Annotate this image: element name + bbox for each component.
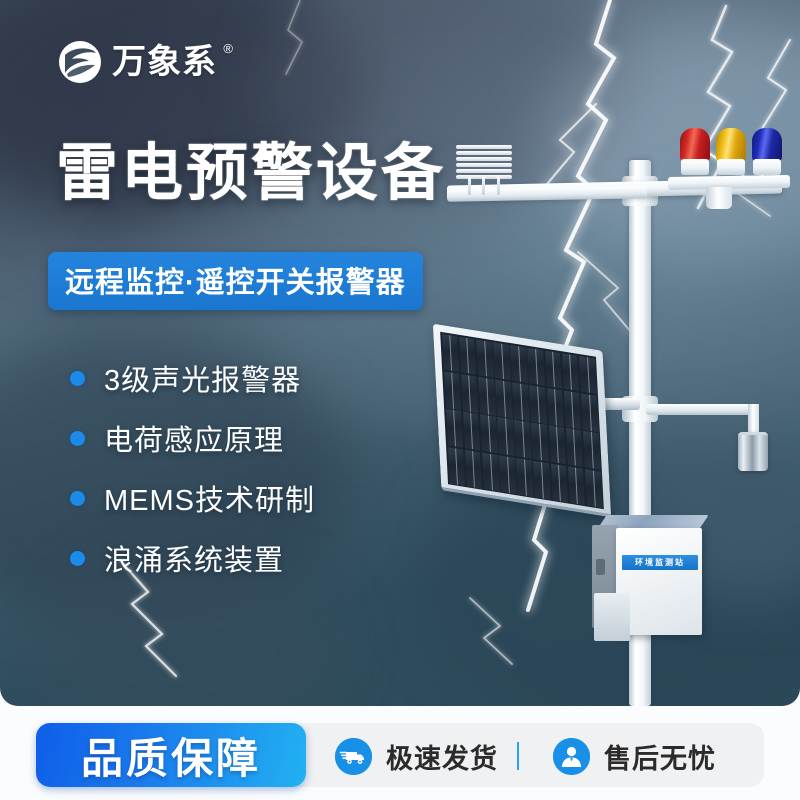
feature-label: 电荷感应原理 bbox=[104, 417, 284, 459]
right-sensor-arm bbox=[646, 404, 758, 415]
subtitle-badge: 远程监控·遥控开关报警器 bbox=[48, 252, 423, 310]
promo-banner: 环境监测站 万象系 ® 雷电预警设备 远程监控·遥控开关报警器 bbox=[0, 0, 800, 800]
service-fast-delivery: 极速发货 bbox=[335, 737, 498, 776]
brand-name-text: 万象系 bbox=[112, 43, 217, 81]
blue-beacon bbox=[752, 128, 782, 176]
feature-item: MEMS技术研制 bbox=[70, 468, 315, 528]
brand-name: 万象系 ® bbox=[112, 45, 217, 79]
blue-dot-icon bbox=[70, 491, 85, 506]
customer-support-icon bbox=[553, 738, 590, 775]
blue-dot-icon bbox=[70, 371, 85, 386]
control-box-label: 环境监测站 bbox=[622, 555, 698, 570]
hero-image: 环境监测站 万象系 ® 雷电预警设备 远程监控·遥控开关报警器 bbox=[0, 0, 800, 706]
cylinder-sensor bbox=[738, 432, 768, 471]
trust-bar: 品质保障 极速发货 bbox=[0, 713, 800, 793]
radiation-shield-sensor bbox=[456, 145, 512, 177]
control-box-lower-module bbox=[594, 593, 630, 641]
feature-item: 3级声光报警器 bbox=[70, 348, 315, 408]
feature-label: MEMS技术研制 bbox=[104, 477, 315, 519]
control-box-vent bbox=[596, 559, 605, 575]
beacon-tray-stem bbox=[706, 187, 732, 209]
quality-badge-label: 品质保障 bbox=[81, 725, 261, 786]
page-title: 雷电预警设备 bbox=[56, 143, 446, 205]
feature-label: 3级声光报警器 bbox=[104, 357, 301, 399]
feature-item: 浪涌系统装置 bbox=[70, 528, 315, 588]
trademark-symbol: ® bbox=[223, 42, 234, 55]
solar-panel bbox=[433, 324, 611, 518]
swirl-sphere-logo-icon bbox=[58, 40, 102, 84]
service-label: 极速发货 bbox=[386, 737, 498, 776]
red-beacon bbox=[680, 128, 710, 176]
feature-item: 电荷感应原理 bbox=[70, 408, 315, 468]
service-after-sales: 售后无忧 bbox=[553, 737, 716, 776]
feature-label: 浪涌系统装置 bbox=[104, 537, 284, 579]
blue-dot-icon bbox=[70, 551, 85, 566]
delivery-truck-icon bbox=[335, 738, 372, 775]
brand-logo: 万象系 ® bbox=[58, 40, 217, 84]
yellow-beacon bbox=[716, 128, 746, 176]
feature-list: 3级声光报警器 电荷感应原理 MEMS技术研制 浪涌系统装置 bbox=[70, 348, 315, 588]
blue-dot-icon bbox=[70, 431, 85, 446]
quality-badge: 品质保障 bbox=[36, 723, 306, 787]
service-label: 售后无忧 bbox=[604, 737, 716, 776]
trust-bar-divider bbox=[517, 742, 519, 770]
control-box: 环境监测站 bbox=[592, 515, 702, 635]
